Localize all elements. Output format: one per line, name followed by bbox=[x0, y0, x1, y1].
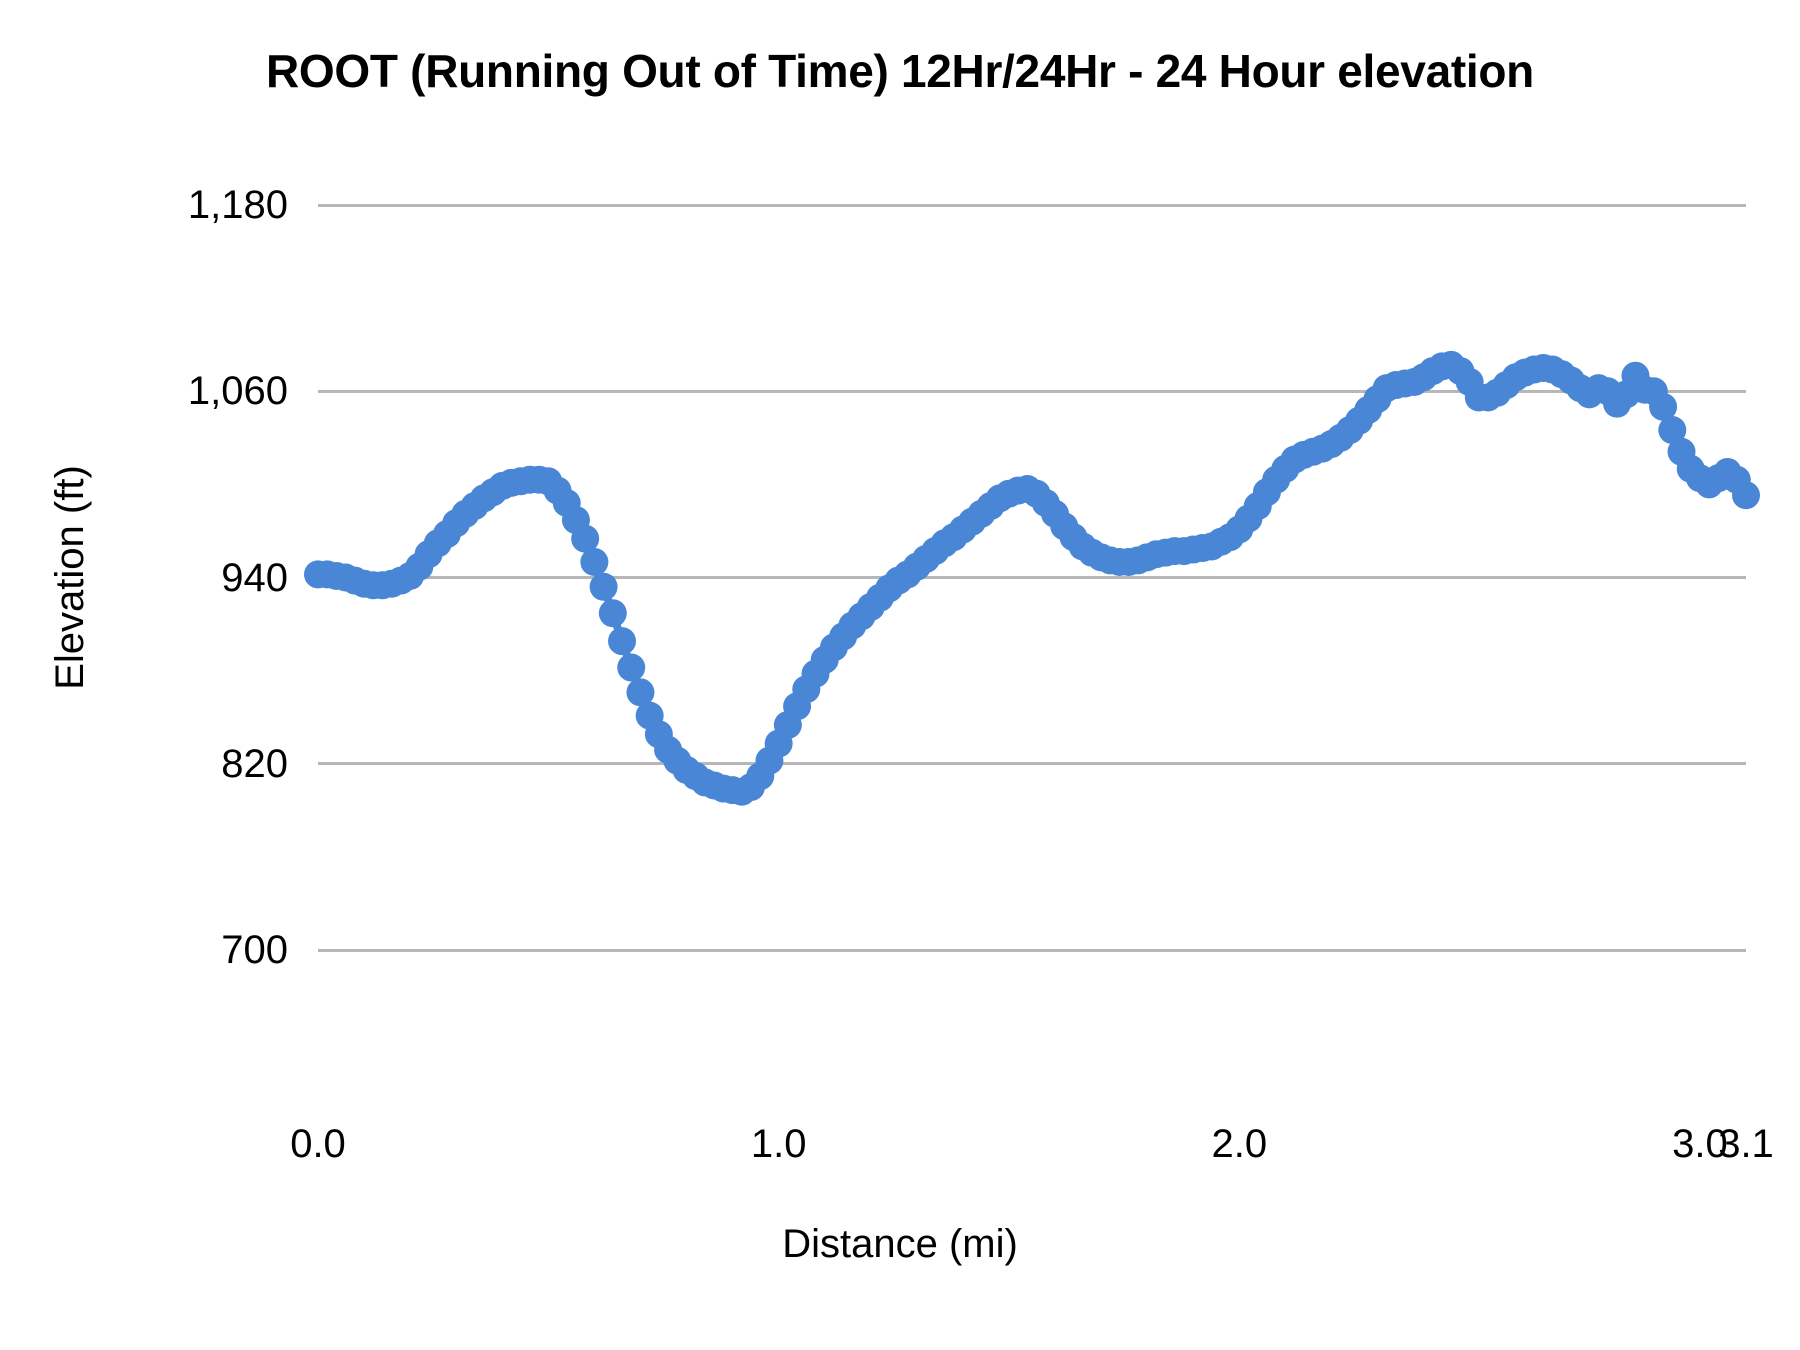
x-tick-label: 3.1 bbox=[1718, 1124, 1774, 1164]
data-point bbox=[590, 573, 618, 601]
y-tick-label: 700 bbox=[221, 930, 288, 970]
plot-area bbox=[318, 205, 1746, 950]
x-tick-label: 0.0 bbox=[290, 1124, 346, 1164]
x-tick-label: 2.0 bbox=[1211, 1124, 1267, 1164]
y-tick-label: 820 bbox=[221, 744, 288, 784]
series-line bbox=[318, 365, 1746, 792]
y-tick-label: 1,180 bbox=[188, 185, 288, 225]
data-point bbox=[617, 654, 645, 682]
chart-title: ROOT (Running Out of Time) 12Hr/24Hr - 2… bbox=[0, 44, 1800, 98]
y-axis-title: Elevation (ft) bbox=[48, 205, 108, 950]
data-point bbox=[1732, 481, 1760, 509]
x-axis-title: Distance (mi) bbox=[0, 1222, 1800, 1267]
elevation-series bbox=[318, 205, 1746, 950]
y-tick-label: 1,060 bbox=[188, 371, 288, 411]
y-tick-label: 940 bbox=[221, 558, 288, 598]
x-tick-label: 1.0 bbox=[751, 1124, 807, 1164]
elevation-chart: ROOT (Running Out of Time) 12Hr/24Hr - 2… bbox=[0, 0, 1800, 1350]
data-point bbox=[599, 599, 627, 627]
series-markers bbox=[304, 351, 1760, 806]
data-point bbox=[608, 627, 636, 655]
data-point bbox=[580, 548, 608, 576]
